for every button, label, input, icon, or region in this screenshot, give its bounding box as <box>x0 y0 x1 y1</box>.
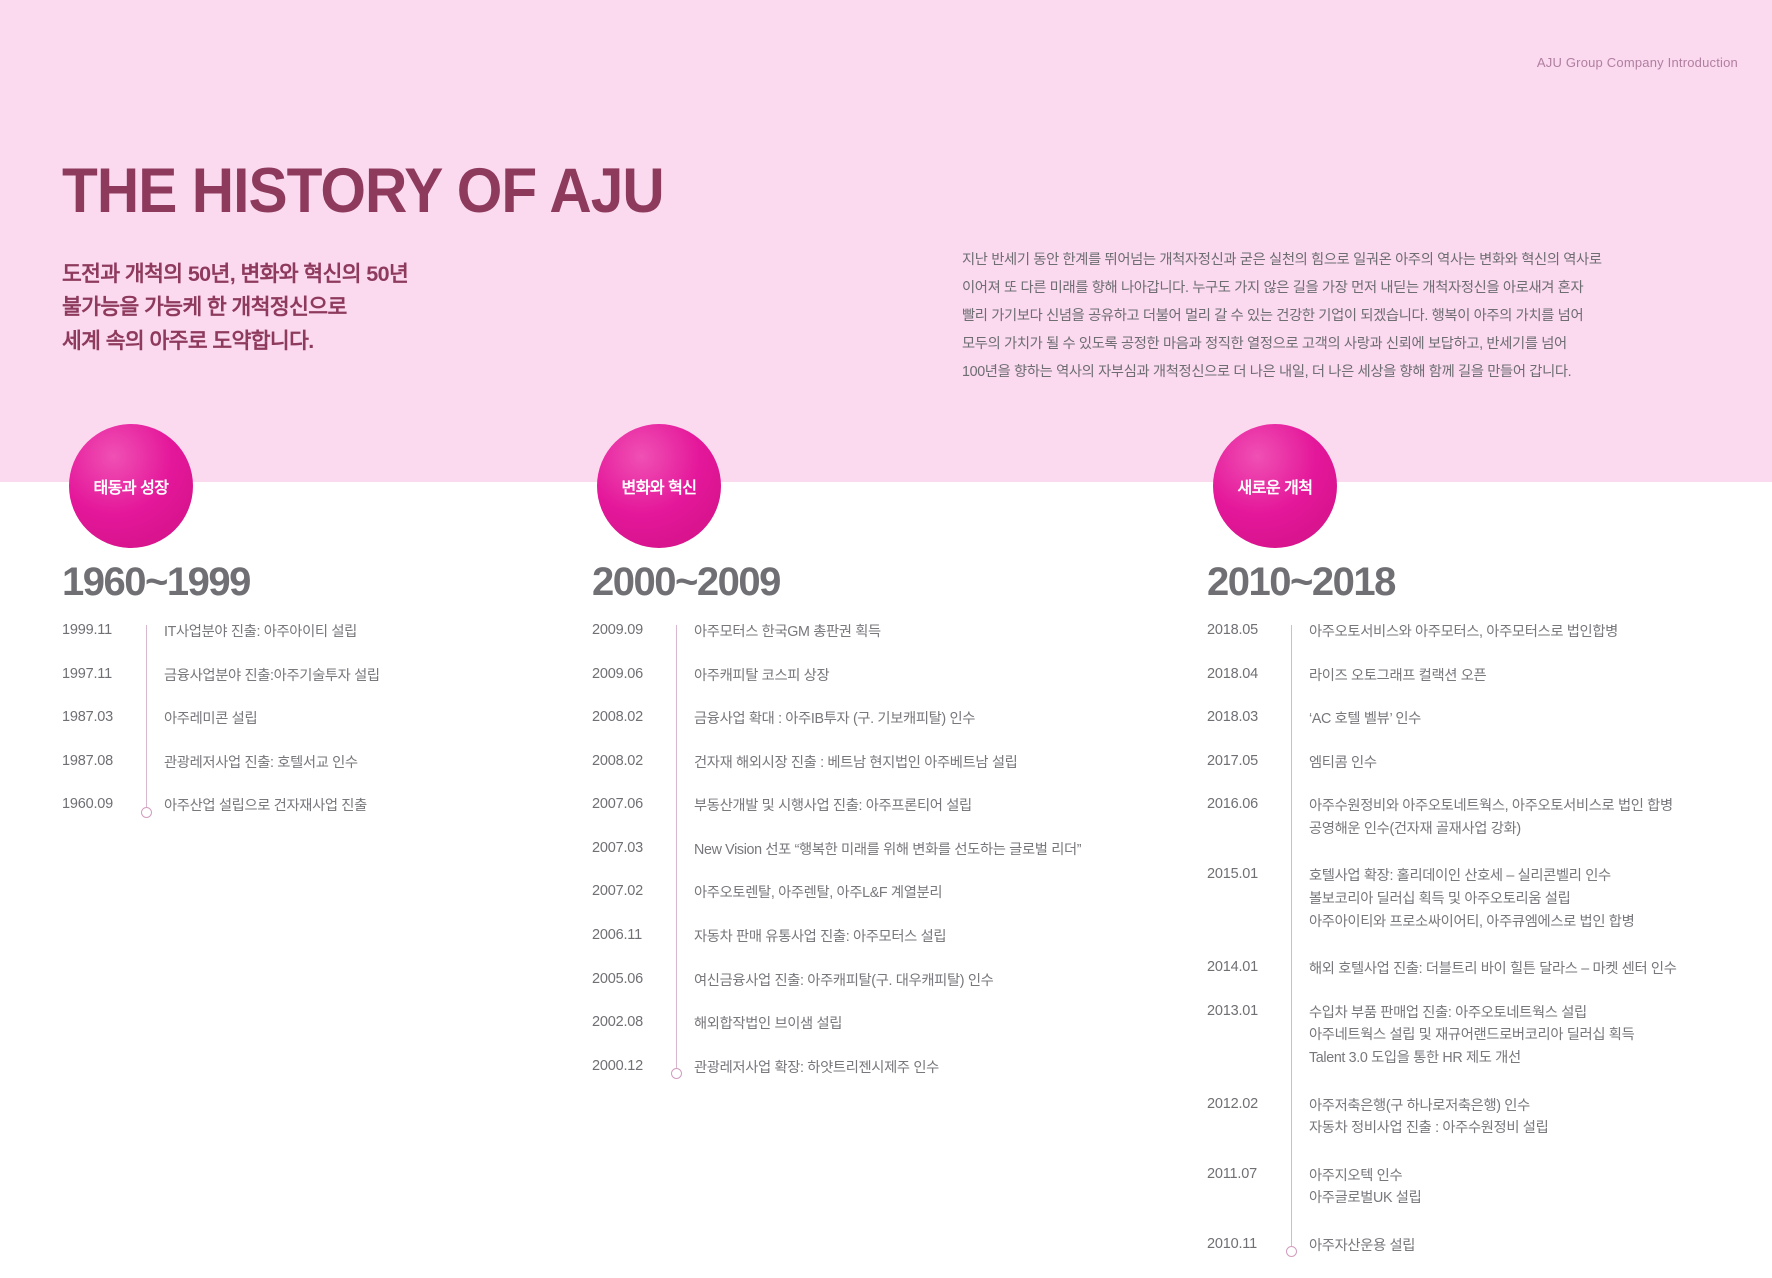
timeline-row-text: 금융사업 확대 : 아주IB투자 (구. 기보캐피탈) 인수 <box>694 708 1152 731</box>
hero-subtitle: 도전과 개척의 50년, 변화와 혁신의 50년 불가능을 가능케 한 개척정신… <box>62 258 408 358</box>
timeline-row-text: 금융사업분야 진출:아주기술투자 설립 <box>164 665 532 688</box>
timeline-row: 2008.02건자재 해외시장 진출 : 베트남 현지법인 아주베트남 설립 <box>592 752 1152 775</box>
timeline-row-text: 아주수원정비와 아주오토네트웍스, 아주오토서비스로 법인 합병 공영해운 인수… <box>1309 795 1767 840</box>
hero-panel <box>0 0 1772 482</box>
timeline-row-date: 2007.06 <box>592 795 664 812</box>
era-heading: 2000~2009 <box>592 560 1152 605</box>
timeline-row: 2013.01수입차 부품 판매업 진출: 아주오토네트웍스 설립 아주네트웍스… <box>1207 1002 1767 1070</box>
timeline-row-date: 2013.01 <box>1207 1002 1279 1019</box>
timeline-row-text: 아주모터스 한국GM 총판권 획득 <box>694 621 1152 644</box>
timeline-row-date: 2012.02 <box>1207 1095 1279 1112</box>
timeline-row-date: 2018.04 <box>1207 665 1279 682</box>
timeline-row-text: 아주지오텍 인수 아주글로벌UK 설립 <box>1309 1165 1767 1210</box>
timeline-row-text: IT사업분야 진출: 아주아이티 설립 <box>164 621 532 644</box>
timeline-row-text: 여신금융사업 진출: 아주캐피탈(구. 대우캐피탈) 인수 <box>694 970 1152 993</box>
timeline-row: 2015.01호텔사업 확장: 홀리데이인 산호세 – 실리콘벨리 인수 볼보코… <box>1207 865 1767 933</box>
timeline-list: 2018.05아주오토서비스와 아주모터스, 아주모터스로 법인합병2018.0… <box>1207 621 1767 1257</box>
timeline-row: 2018.05아주오토서비스와 아주모터스, 아주모터스로 법인합병 <box>1207 621 1767 644</box>
era-badge-label: 변화와 혁신 <box>621 474 696 498</box>
era-badge-2: 변화와 혁신 <box>597 424 721 548</box>
timeline-row: 2016.06아주수원정비와 아주오토네트웍스, 아주오토서비스로 법인 합병 … <box>1207 795 1767 840</box>
timeline-row: 2006.11자동차 판매 유통사업 진출: 아주모터스 설립 <box>592 926 1152 949</box>
timeline-column-2: 2000~2009 2009.09아주모터스 한국GM 총판권 획득2009.0… <box>592 560 1152 1100</box>
timeline-row-text: 호텔사업 확장: 홀리데이인 산호세 – 실리콘벨리 인수 볼보코리아 딜러십 … <box>1309 865 1767 933</box>
era-heading: 2010~2018 <box>1207 560 1767 605</box>
timeline-row-date: 2011.07 <box>1207 1165 1279 1182</box>
timeline-row: 1987.03아주레미콘 설립 <box>62 708 532 731</box>
timeline-row-date: 2005.06 <box>592 970 664 987</box>
timeline-row-date: 1997.11 <box>62 665 134 682</box>
timeline-row-text: 부동산개발 및 시행사업 진출: 아주프론티어 설립 <box>694 795 1152 818</box>
era-heading: 1960~1999 <box>62 560 532 605</box>
timeline-row-date: 2016.06 <box>1207 795 1279 812</box>
timeline-row-date: 2010.11 <box>1207 1235 1279 1252</box>
timeline-row: 2007.06부동산개발 및 시행사업 진출: 아주프론티어 설립 <box>592 795 1152 818</box>
timeline-row-date: 2009.06 <box>592 665 664 682</box>
timeline-row-date: 2007.03 <box>592 839 664 856</box>
timeline-column-3: 2010~2018 2018.05아주오토서비스와 아주모터스, 아주모터스로 … <box>1207 560 1767 1278</box>
timeline-row: 2002.08해외합작법인 브이샘 설립 <box>592 1013 1152 1036</box>
page-title: THE HISTORY OF AJU <box>62 160 664 223</box>
timeline-row-date: 2015.01 <box>1207 865 1279 882</box>
era-badge-3: 새로운 개척 <box>1213 424 1337 548</box>
timeline-row-date: 2007.02 <box>592 882 664 899</box>
timeline-row-text: 해외합작법인 브이샘 설립 <box>694 1013 1152 1036</box>
intro-paragraph: 지난 반세기 동안 한계를 뛰어넘는 개척자정신과 굳은 실천의 힘으로 일궈온… <box>962 246 1704 386</box>
timeline-row-text: ‘AC 호텔 벨뷰’ 인수 <box>1309 708 1767 731</box>
header-note: AJU Group Company Introduction <box>1537 55 1738 70</box>
timeline-row-date: 2008.02 <box>592 708 664 725</box>
timeline-row: 2007.03New Vision 선포 “행복한 미래를 위해 변화를 선도하… <box>592 839 1152 862</box>
timeline-row: 2009.09아주모터스 한국GM 총판권 획득 <box>592 621 1152 644</box>
era-badge-1: 태동과 성장 <box>69 424 193 548</box>
timeline-row-date: 2017.05 <box>1207 752 1279 769</box>
timeline-row-text: 건자재 해외시장 진출 : 베트남 현지법인 아주베트남 설립 <box>694 752 1152 775</box>
timeline-row-text: 아주레미콘 설립 <box>164 708 532 731</box>
timeline-row-text: 아주산업 설립으로 건자재사업 진출 <box>164 795 532 818</box>
timeline-row-text: 아주저축은행(구 하나로저축은행) 인수 자동차 정비사업 진출 : 아주수원정… <box>1309 1095 1767 1140</box>
timeline-row-date: 2018.03 <box>1207 708 1279 725</box>
era-badge-label: 태동과 성장 <box>93 474 168 498</box>
timeline-row-date: 2002.08 <box>592 1013 664 1030</box>
timeline-row-text: 엠티콤 인수 <box>1309 752 1767 775</box>
timeline-list: 2009.09아주모터스 한국GM 총판권 획득2009.06아주캐피탈 코스피… <box>592 621 1152 1079</box>
timeline-row: 2014.01해외 호텔사업 진출: 더블트리 바이 힐튼 달라스 – 마켓 센… <box>1207 958 1767 981</box>
timeline-row: 2018.03‘AC 호텔 벨뷰’ 인수 <box>1207 708 1767 731</box>
timeline-row-text: New Vision 선포 “행복한 미래를 위해 변화를 선도하는 글로벌 리… <box>694 839 1152 862</box>
timeline-row-text: 아주자산운용 설립 <box>1309 1235 1767 1258</box>
timeline-row-text: 관광레저사업 진출: 호텔서교 인수 <box>164 752 532 775</box>
timeline-row-date: 2018.05 <box>1207 621 1279 638</box>
timeline-row-text: 해외 호텔사업 진출: 더블트리 바이 힐튼 달라스 – 마켓 센터 인수 <box>1309 958 1767 981</box>
timeline-row-date: 1987.08 <box>62 752 134 769</box>
timeline-row: 1960.09아주산업 설립으로 건자재사업 진출 <box>62 795 532 818</box>
timeline-row: 1999.11IT사업분야 진출: 아주아이티 설립 <box>62 621 532 644</box>
timeline-row: 2011.07아주지오텍 인수 아주글로벌UK 설립 <box>1207 1165 1767 1210</box>
timeline-row-date: 2000.12 <box>592 1057 664 1074</box>
timeline-row-date: 2014.01 <box>1207 958 1279 975</box>
timeline-row: 1987.08관광레저사업 진출: 호텔서교 인수 <box>62 752 532 775</box>
timeline-row: 2005.06여신금융사업 진출: 아주캐피탈(구. 대우캐피탈) 인수 <box>592 970 1152 993</box>
timeline-row: 2008.02금융사업 확대 : 아주IB투자 (구. 기보캐피탈) 인수 <box>592 708 1152 731</box>
timeline-row-date: 1960.09 <box>62 795 134 812</box>
timeline-row-text: 아주오토렌탈, 아주렌탈, 아주L&F 계열분리 <box>694 882 1152 905</box>
timeline-row: 2018.04라이즈 오토그래프 컬랙션 오픈 <box>1207 665 1767 688</box>
timeline-row: 1997.11금융사업분야 진출:아주기술투자 설립 <box>62 665 532 688</box>
timeline-row: 2007.02아주오토렌탈, 아주렌탈, 아주L&F 계열분리 <box>592 882 1152 905</box>
timeline-row-date: 1999.11 <box>62 621 134 638</box>
timeline-column-1: 1960~1999 1999.11IT사업분야 진출: 아주아이티 설립1997… <box>62 560 532 839</box>
timeline-row-date: 2009.09 <box>592 621 664 638</box>
timeline-row-text: 아주오토서비스와 아주모터스, 아주모터스로 법인합병 <box>1309 621 1767 644</box>
timeline-row-date: 2008.02 <box>592 752 664 769</box>
timeline-list: 1999.11IT사업분야 진출: 아주아이티 설립1997.11금융사업분야 … <box>62 621 532 818</box>
timeline-row: 2017.05엠티콤 인수 <box>1207 752 1767 775</box>
timeline-row-text: 수입차 부품 판매업 진출: 아주오토네트웍스 설립 아주네트웍스 설립 및 재… <box>1309 1002 1767 1070</box>
timeline-end-dot <box>141 807 152 818</box>
timeline-row-text: 라이즈 오토그래프 컬랙션 오픈 <box>1309 665 1767 688</box>
timeline-row: 2012.02아주저축은행(구 하나로저축은행) 인수 자동차 정비사업 진출 … <box>1207 1095 1767 1140</box>
timeline-row-text: 아주캐피탈 코스피 상장 <box>694 665 1152 688</box>
timeline-row-text: 관광레저사업 확장: 하얏트리젠시제주 인수 <box>694 1057 1152 1080</box>
timeline-row-date: 1987.03 <box>62 708 134 725</box>
timeline-row: 2009.06아주캐피탈 코스피 상장 <box>592 665 1152 688</box>
timeline-row-date: 2006.11 <box>592 926 664 943</box>
timeline-row-text: 자동차 판매 유통사업 진출: 아주모터스 설립 <box>694 926 1152 949</box>
era-badge-label: 새로운 개척 <box>1237 474 1312 498</box>
